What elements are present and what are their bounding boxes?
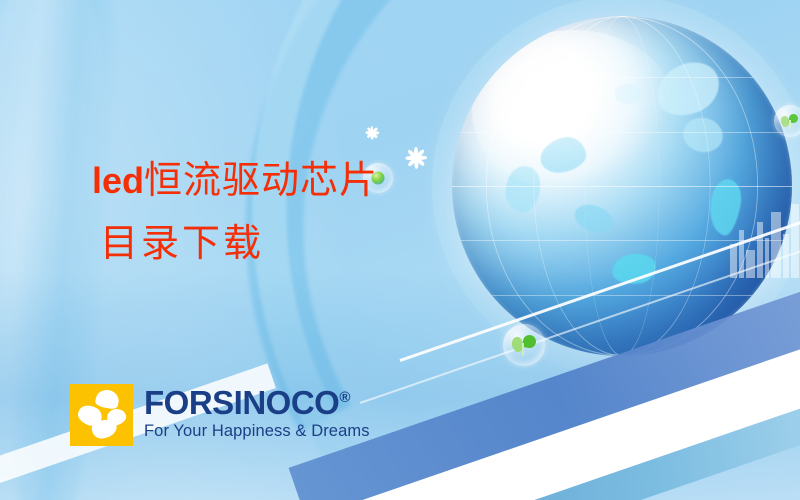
headline-latin-text: led: [92, 160, 144, 201]
earth-globe-icon: [452, 16, 792, 356]
headline-cjk-text: 恒流驱动芯片: [144, 160, 378, 202]
headline-block: led恒流驱动芯片 目录下载: [92, 160, 378, 265]
four-petal-pinwheel-icon: [70, 384, 133, 446]
registered-trademark-icon: ®: [339, 389, 350, 406]
city-skyline-silhouette: [728, 196, 800, 278]
globe-rim: [452, 16, 792, 356]
sparkle-flower-large-icon: [403, 145, 429, 171]
bubble-sprout-icon: [503, 324, 545, 366]
logo-text-block: FORSINOCO® For Your Happiness & Dreams: [144, 386, 370, 441]
headline-line-1: led恒流驱动芯片: [92, 160, 378, 203]
logo-company-name-text: FORSINOCO: [144, 384, 339, 421]
logo-tagline: For Your Happiness & Dreams: [144, 422, 370, 441]
company-logo[interactable]: FORSINOCO® For Your Happiness & Dreams: [70, 384, 370, 446]
banner-canvas: led恒流驱动芯片 目录下载 FORSINOCO® For Your Happi…: [0, 0, 800, 500]
headline-line-2: 目录下载: [100, 223, 378, 266]
sparkle-flower-small-icon: [364, 125, 380, 141]
bubble-sprout-icon-small: [774, 105, 800, 137]
logo-company-name: FORSINOCO®: [144, 386, 370, 419]
